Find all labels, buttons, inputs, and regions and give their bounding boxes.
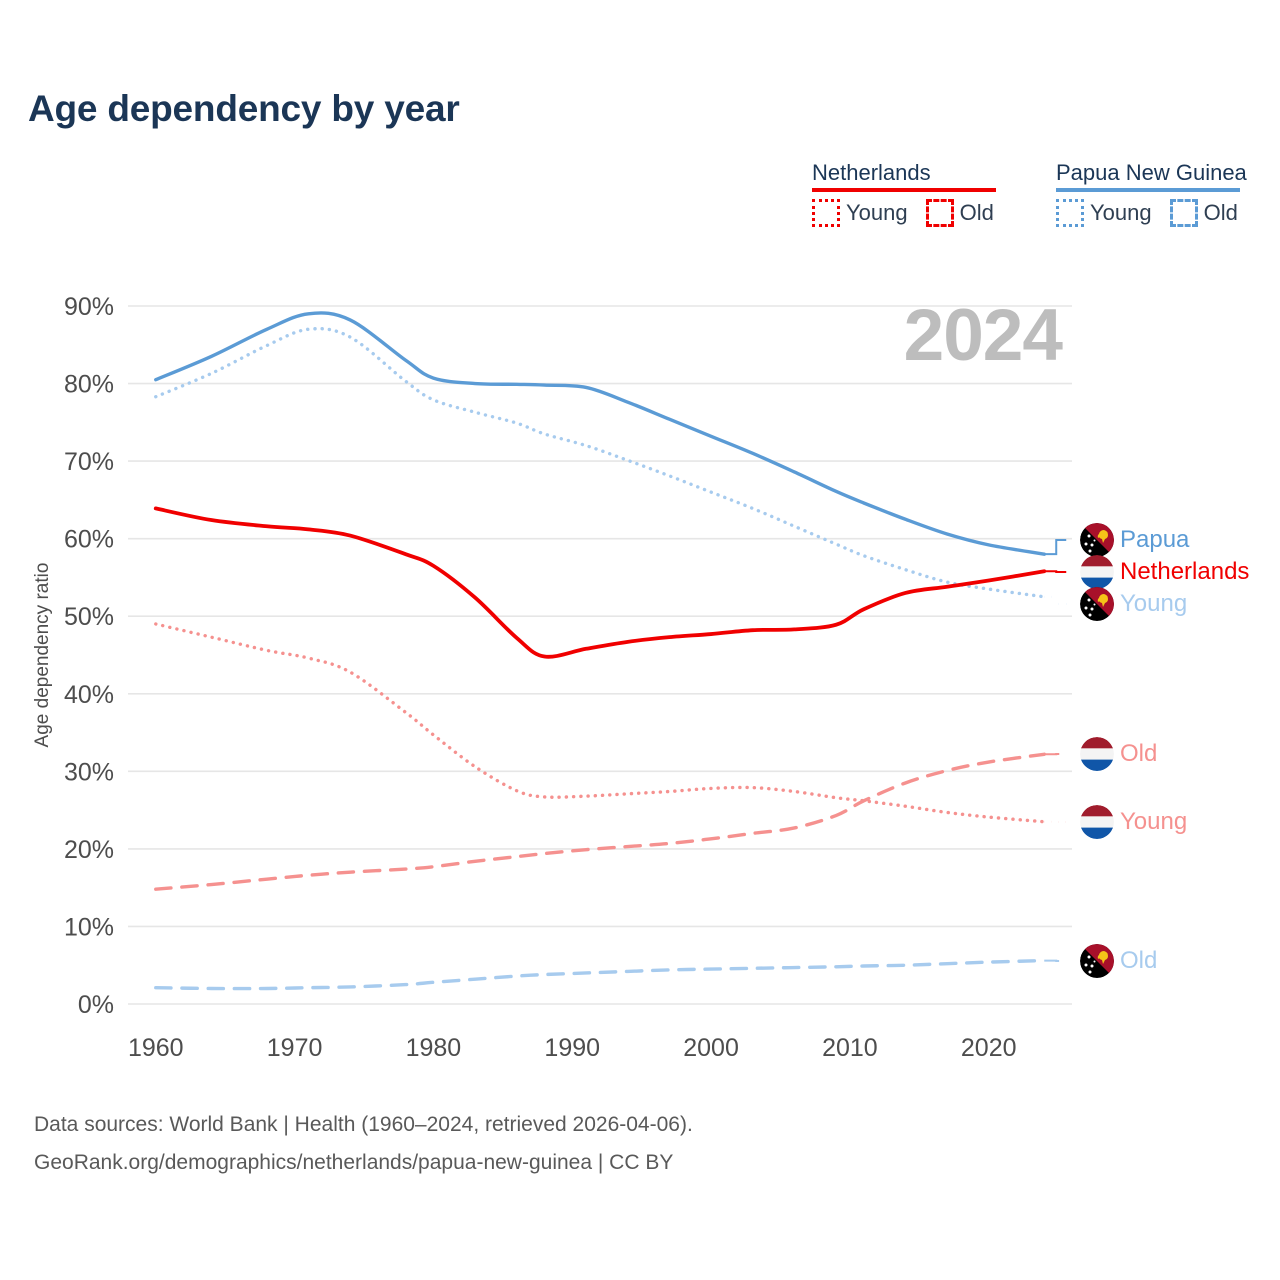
- series-line-nl_total: [156, 508, 1044, 656]
- series-end-label-text: Young: [1120, 808, 1187, 836]
- series-end-label-netherlands-1: Netherlands: [1080, 555, 1249, 589]
- netherlands-flag-icon: [1080, 805, 1114, 839]
- y-tick-label: 50%: [64, 603, 114, 631]
- y-tick-label: 40%: [64, 681, 114, 709]
- papua-new-guinea-flag-icon: [1080, 944, 1114, 978]
- series-end-label-old-5: Old: [1080, 944, 1157, 978]
- y-tick-label: 80%: [64, 371, 114, 399]
- chart-container: Age dependency by year Netherlands Young…: [0, 0, 1280, 1280]
- series-end-label-text: Young: [1120, 590, 1187, 618]
- series-line-png_total: [156, 313, 1044, 554]
- series-end-label-young-4: Young: [1080, 805, 1187, 839]
- x-tick-label: 2010: [822, 1034, 878, 1062]
- series-end-label-text: Netherlands: [1120, 558, 1249, 586]
- y-tick-label: 70%: [64, 448, 114, 476]
- leader-line-png_total: [1044, 540, 1066, 554]
- series-end-label-text: Papua: [1120, 526, 1189, 554]
- x-tick-label: 1970: [267, 1034, 323, 1062]
- series-end-label-old-3: Old: [1080, 737, 1157, 771]
- series-line-nl_old: [156, 754, 1044, 889]
- y-tick-label: 10%: [64, 913, 114, 941]
- leader-line-nl_total: [1044, 571, 1066, 572]
- x-tick-label: 1980: [406, 1034, 462, 1062]
- y-tick-label: 90%: [64, 293, 114, 321]
- plot-area: 0%10%20%30%40%50%60%70%80%90%19601970198…: [0, 0, 1280, 1280]
- netherlands-flag-icon: [1080, 555, 1114, 589]
- footer-line-sources: Data sources: World Bank | Health (1960–…: [34, 1106, 693, 1144]
- leader-line-png_young: [1044, 597, 1066, 604]
- x-tick-label: 2000: [683, 1034, 739, 1062]
- series-end-label-young-2: Young: [1080, 587, 1187, 621]
- y-tick-label: 20%: [64, 836, 114, 864]
- x-tick-label: 1960: [128, 1034, 184, 1062]
- y-axis-title: Age dependency ratio: [32, 563, 53, 748]
- papua-new-guinea-flag-icon: [1080, 587, 1114, 621]
- series-line-png_young: [156, 329, 1044, 597]
- x-tick-label: 2020: [961, 1034, 1017, 1062]
- y-tick-label: 0%: [78, 991, 114, 1019]
- series-end-label-text: Old: [1120, 740, 1157, 768]
- footer: Data sources: World Bank | Health (1960–…: [34, 1106, 693, 1182]
- series-end-label-papua-0: Papua: [1080, 523, 1189, 557]
- x-tick-label: 1990: [544, 1034, 600, 1062]
- footer-line-url: GeoRank.org/demographics/netherlands/pap…: [34, 1144, 693, 1182]
- series-line-nl_young: [156, 624, 1044, 822]
- series-line-png_old: [156, 961, 1044, 989]
- series-end-label-text: Old: [1120, 947, 1157, 975]
- y-tick-label: 30%: [64, 758, 114, 786]
- netherlands-flag-icon: [1080, 737, 1114, 771]
- papua-new-guinea-flag-icon: [1080, 523, 1114, 557]
- y-tick-label: 60%: [64, 526, 114, 554]
